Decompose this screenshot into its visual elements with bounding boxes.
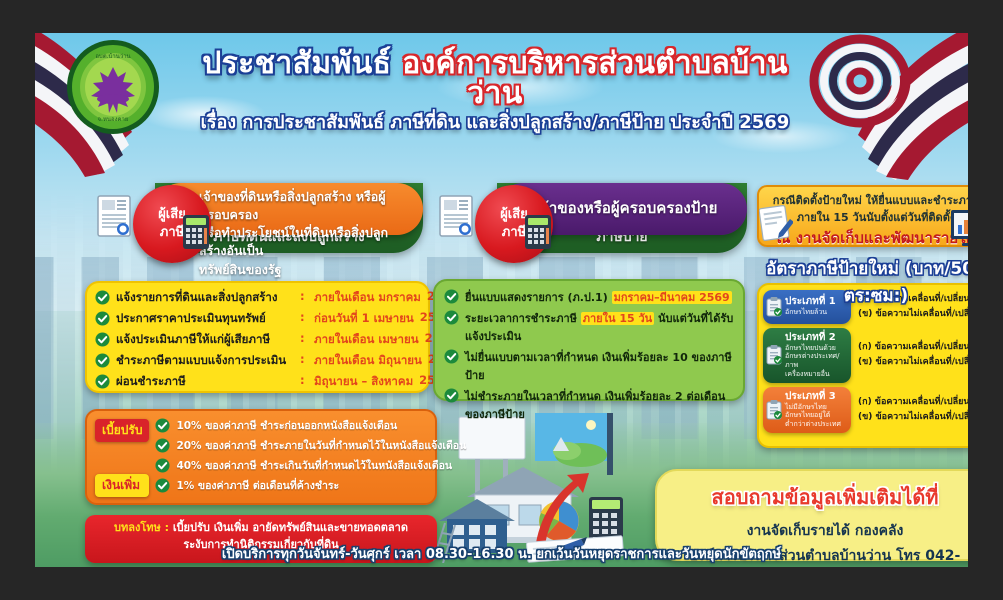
schedule-label: ประกาศราคาประเมินทุนทรัพย์	[116, 310, 294, 328]
clipboard-icon	[766, 400, 782, 420]
check-icon	[155, 418, 170, 433]
fine-tag: เบี้ยปรับ	[95, 419, 149, 442]
land-tax-who-line2: หรือทำประโยชน์ในที่ดินหรือสิ่งปลูกสร้างอ…	[199, 224, 413, 260]
penalty-panel: เบี้ยปรับ เงินเพิ่ม 10% ของค่าภาษี ชำระก…	[85, 409, 437, 505]
sign-tax-rule-rows: ยื่นแบบแสดงรายการ (ภ.ป.1) มกราคม–มีนาคม …	[444, 288, 734, 423]
sanction-line-1: บทลงโทษ : เบี้ยปรับ เงินเพิ่ม อายัดทรัพย…	[93, 520, 429, 537]
check-icon	[155, 478, 170, 493]
svg-text:จ.หนองคาย: จ.หนองคาย	[98, 116, 129, 123]
sanction-tag: บทลงโทษ :	[114, 521, 169, 534]
rate-category-sub: อักษรไทยอยู่ใต้	[785, 411, 847, 420]
schedule-row: แจ้งรายการที่ดินและสิ่งปลูกสร้าง:ภายในเด…	[95, 289, 420, 307]
rate-lines: (ก) ข้อความเคลื่อนที่/เปลี่ยนได้(ข) ข้อค…	[851, 387, 968, 433]
notice-emphasis: ณ งานจัดเก็บและพัฒนารายได้	[767, 226, 968, 250]
headline-block: ประชาสัมพันธ์ องค์การบริหารส่วนตำบลบ้านว…	[185, 49, 805, 132]
penalty-text: 40% ของค่าภาษี ชำระเกินวันที่กำหนดไว้ในห…	[176, 457, 452, 474]
rate-category-title: ประเภทที่ 2	[785, 332, 847, 344]
check-icon	[155, 438, 170, 453]
rate-lines: (ก) ข้อความเคลื่อนที่/เปลี่ยนได้(ข) ข้อค…	[851, 328, 968, 383]
contact-title: สอบถามข้อมูลเพิ่มเติมได้ที่	[665, 481, 968, 513]
check-icon	[444, 349, 459, 364]
schedule-value: มิถุนายน – สิงหาคม	[314, 373, 413, 391]
monitor-chart-icon	[950, 209, 968, 247]
rate-category-sub: เครื่องหมายอื่น	[785, 370, 847, 379]
sign-rule-text: ไม่ชำระภายในเวลาที่กำหนด เงินเพิ่มร้อยละ…	[465, 387, 734, 423]
penalty-text: 20% ของค่าภาษี ชำระภายในวันที่กำหนดไว้ใน…	[176, 437, 466, 454]
penalty-text: 10% ของค่าภาษี ชำระก่อนออกหนังสือแจ้งเตื…	[176, 417, 397, 434]
penalty-row: 10% ของค่าภาษี ชำระก่อนออกหนังสือแจ้งเตื…	[155, 417, 466, 434]
penalty-text: 1% ของค่าภาษี ต่อเดือนที่ค้างชำระ	[176, 477, 339, 494]
rate-line: (ข) ข้อความไม่เคลื่อนที่/เปลี่ยนไม่ได้	[858, 410, 968, 425]
schedule-row: ผ่อนชำระภาษี:มิถุนายน – สิงหาคม2569	[95, 373, 420, 391]
check-icon	[95, 290, 110, 305]
schedule-value: ภายในเดือน มิถุนายน	[314, 352, 422, 370]
land-tax-who-line1: เจ้าของที่ดินหรือสิ่งปลูกสร้าง หรือผู้คร…	[199, 188, 413, 224]
sign-rule-text: ยื่นแบบแสดงรายการ (ภ.ป.1) มกราคม–มีนาคม …	[465, 288, 732, 306]
rate-line: (ก) ข้อความเคลื่อนที่/เปลี่ยนได้	[858, 395, 968, 410]
sign-rule-text: ระยะเวลาการชำระภาษี ภายใน 15 วัน นับแต่ว…	[465, 309, 734, 345]
check-icon	[95, 332, 110, 347]
schedule-sep: :	[300, 310, 308, 324]
check-icon	[95, 311, 110, 326]
check-icon	[444, 289, 459, 304]
rate-category-sub: อักษรไทยล้วน	[785, 308, 847, 317]
rate-category-sub: ต่ำกว่าต่างประเทศ	[785, 420, 847, 429]
document-icon-land	[97, 195, 131, 237]
surcharge-tag: เงินเพิ่ม	[95, 474, 149, 497]
notice-line-1: กรณีติดตั้งป้ายใหม่ ให้ยื่นแบบและชำระภาษ…	[767, 193, 968, 210]
schedule-sep: :	[300, 373, 308, 387]
land-tax-schedule-rows: แจ้งรายการที่ดินและสิ่งปลูกสร้าง:ภายในเด…	[95, 289, 420, 391]
schedule-sep: :	[300, 331, 308, 345]
municipality-logo: อบต.บ้านว่าน จ.หนองคาย	[57, 33, 169, 141]
page-subtitle: เรื่อง การประชาสัมพันธ์ ภาษีที่ดิน และสิ…	[185, 114, 805, 132]
check-icon	[444, 310, 459, 325]
land-tax-who-line3: ทรัพย์สินของรัฐ	[199, 261, 413, 279]
check-icon	[95, 374, 110, 389]
schedule-value: ภายในเดือน มกราคม	[314, 289, 421, 307]
footer-bar: เปิดบริการทุกวันจันทร์-วันศุกร์ เวลา 08.…	[35, 539, 968, 567]
rate-category-badge: ประเภทที่ 2อักษรไทยปนด้วยอักษรต่างประเทศ…	[763, 328, 851, 383]
rate-table-rows: ประเภทที่ 1อักษรไทยล้วน(ก) ข้อความเคลื่อ…	[763, 290, 968, 433]
svg-text:อบต.บ้านว่าน: อบต.บ้านว่าน	[95, 53, 130, 60]
schedule-label: ผ่อนชำระภาษี	[116, 373, 294, 391]
taxpayer-badge-land-line1: ผู้เสีย	[158, 206, 186, 224]
sanction-text-1: เบี้ยปรับ เงินเพิ่ม อายัดทรัพย์สินและขาย…	[169, 521, 408, 534]
sign-rule-row: ไม่ยื่นแบบตามเวลาที่กำหนด เงินเพิ่มร้อยล…	[444, 348, 734, 384]
sign-rule-highlight: ภายใน 15 วัน	[581, 312, 654, 325]
rate-category-badge: ประเภทที่ 3ไม่มีอักษรไทยอักษรไทยอยู่ใต้ต…	[763, 387, 851, 433]
footer-hours-text: เปิดบริการทุกวันจันทร์-วันศุกร์ เวลา 08.…	[222, 543, 781, 564]
taxpayer-badge-land-line2: ภาษี	[160, 224, 184, 242]
title-part-red: องค์การบริหารส่วนตำบลบ้านว่าน	[402, 46, 788, 111]
rate-category-sub: อักษรไทยปนด้วย	[785, 344, 847, 353]
penalty-rows: 10% ของค่าภาษี ชำระก่อนออกหนังสือแจ้งเตื…	[155, 417, 466, 497]
schedule-sep: :	[300, 289, 308, 303]
rate-table-row: ประเภทที่ 3ไม่มีอักษรไทยอักษรไทยอยู่ใต้ต…	[763, 387, 968, 433]
rate-table-title: อัตราภาษีป้ายใหม่ (บาท/500 ตร:ซม:)	[753, 255, 968, 309]
schedule-value: ก่อนวันที่ 1 เมษายน	[314, 310, 414, 328]
clipboard-icon	[766, 345, 782, 365]
rate-table-title-text: อัตราภาษีป้ายใหม่ (บาท/500 ตร:ซม:)	[766, 259, 968, 306]
schedule-value: ภายในเดือน เมษายน	[314, 331, 419, 349]
sign-rule-text: ไม่ยื่นแบบตามเวลาที่กำหนด เงินเพิ่มร้อยล…	[465, 348, 734, 384]
schedule-sep: :	[300, 352, 308, 366]
land-tax-schedule-box: แจ้งรายการที่ดินและสิ่งปลูกสร้าง:ภายในเด…	[85, 281, 430, 393]
check-icon	[155, 458, 170, 473]
calculator-icon-sign	[525, 215, 551, 249]
schedule-row: ประกาศราคาประเมินทุนทรัพย์:ก่อนวันที่ 1 …	[95, 310, 420, 328]
rate-line: (ข) ข้อความไม่เคลื่อนที่/เปลี่ยนไม่ได้	[858, 307, 968, 322]
notice-line-2: ภายใน 15 วันนับตั้งแต่วันที่ติดตั้ง	[767, 210, 968, 227]
rate-table-row: ประเภทที่ 2อักษรไทยปนด้วยอักษรต่างประเทศ…	[763, 328, 968, 383]
check-icon	[95, 353, 110, 368]
rate-line: (ข) ข้อความไม่เคลื่อนที่/เปลี่ยนไม่ได้	[858, 355, 968, 370]
sign-tax-who-line1: เจ้าของหรือผู้ครอบครองป้าย	[535, 198, 737, 220]
sign-rule-row: ไม่ชำระภายในเวลาที่กำหนด เงินเพิ่มร้อยละ…	[444, 387, 734, 423]
schedule-row: ชำระภาษีตามแบบแจ้งการประเมิน:ภายในเดือน …	[95, 352, 420, 370]
rate-line: (ก) ข้อความเคลื่อนที่/เปลี่ยนได้	[858, 340, 968, 355]
rate-category-title: ประเภทที่ 3	[785, 391, 847, 403]
penalty-row: 1% ของค่าภาษี ต่อเดือนที่ค้างชำระ	[155, 477, 466, 494]
poster-root: อบต.บ้านว่าน จ.หนองคาย ประชาสัมพันธ์ องค…	[35, 33, 968, 567]
penalty-row: 40% ของค่าภาษี ชำระเกินวันที่กำหนดไว้ในห…	[155, 457, 466, 474]
sign-rule-highlight: มกราคม–มีนาคม 2569	[612, 291, 732, 304]
schedule-label: แจ้งรายการที่ดินและสิ่งปลูกสร้าง	[116, 289, 294, 307]
schedule-row: แจ้งประเมินภาษีให้แก่ผู้เสียภาษี:ภายในเด…	[95, 331, 420, 349]
rate-category-sub: อักษรต่างประเทศ/ภาพ	[785, 352, 847, 370]
hand-writing-icon	[759, 203, 793, 243]
schedule-label: ชำระภาษีตามแบบแจ้งการประเมิน	[116, 352, 294, 370]
document-icon-sign	[439, 195, 473, 237]
sign-tax-rules-box: ยื่นแบบแสดงรายการ (ภ.ป.1) มกราคม–มีนาคม …	[433, 279, 745, 401]
sign-rule-row: ยื่นแบบแสดงรายการ (ภ.ป.1) มกราคม–มีนาคม …	[444, 288, 734, 306]
calculator-icon-land	[183, 215, 209, 249]
page-title: ประชาสัมพันธ์ องค์การบริหารส่วนตำบลบ้านว…	[185, 49, 805, 109]
taxpayer-badge-sign-line2: ภาษี	[502, 224, 526, 242]
check-icon	[444, 388, 459, 403]
sign-rule-row: ระยะเวลาการชำระภาษี ภายใน 15 วัน นับแต่ว…	[444, 309, 734, 345]
schedule-label: แจ้งประเมินภาษีให้แก่ผู้เสียภาษี	[116, 331, 294, 349]
penalty-row: 20% ของค่าภาษี ชำระภายในวันที่กำหนดไว้ใน…	[155, 437, 466, 454]
title-part-blue: ประชาสัมพันธ์	[202, 46, 402, 81]
taxpayer-badge-sign-line1: ผู้เสีย	[500, 206, 528, 224]
